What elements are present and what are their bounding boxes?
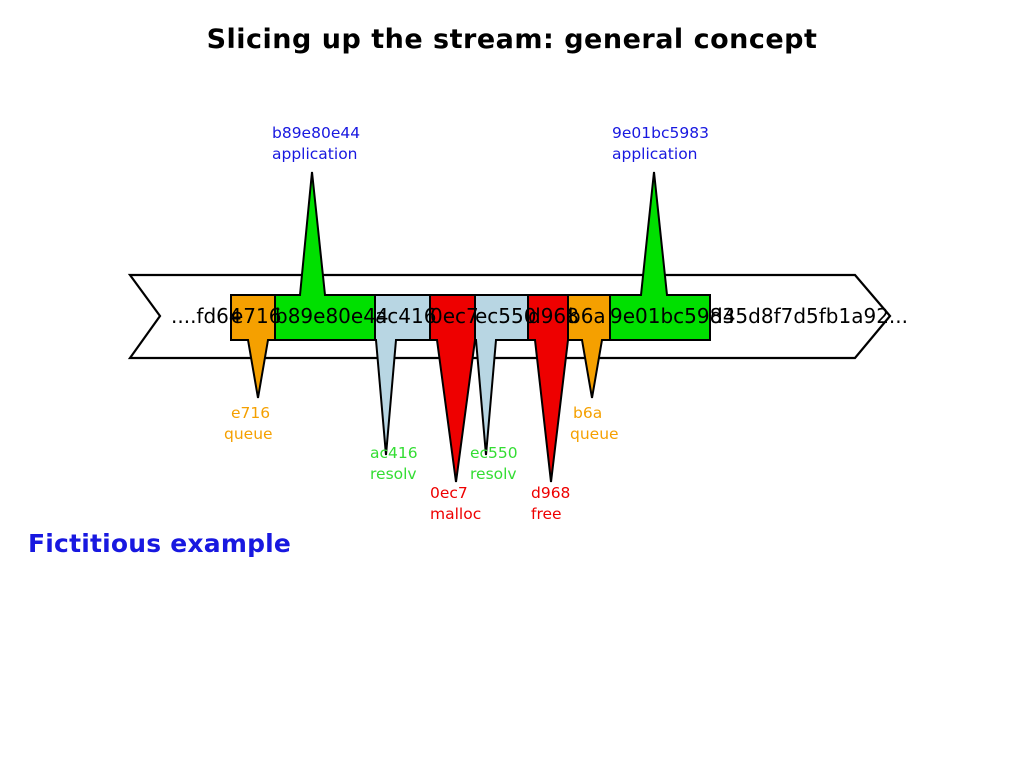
callout-hash: ec550 bbox=[470, 444, 518, 462]
callout-name: application bbox=[272, 145, 358, 163]
callout-name: queue bbox=[224, 425, 273, 443]
stream-hex-text: ....fd64 e716 b89e80e44 ac416 0ec7 ec550… bbox=[171, 304, 908, 328]
callout-name: resolv bbox=[370, 465, 417, 483]
callout-hash: 0ec7 bbox=[430, 484, 468, 502]
stream-segment-text-b6a: b6a bbox=[568, 304, 606, 328]
stream-slicing-diagram: ....fd64 e716 b89e80e44 ac416 0ec7 ec550… bbox=[0, 0, 1024, 768]
callout-hash: b6a bbox=[573, 404, 602, 422]
callout-name: queue bbox=[570, 425, 619, 443]
callout-b89e80e44-application: b89e80e44 application bbox=[272, 124, 360, 163]
stream-suffix: d45d8f7d5fb1a92... bbox=[710, 304, 908, 328]
callout-hash: ac416 bbox=[370, 444, 418, 462]
callout-hash: 9e01bc5983 bbox=[612, 124, 709, 142]
slide-canvas: Slicing up the stream: general concept .… bbox=[0, 0, 1024, 768]
stream-segment-text-ac416: ac416 bbox=[375, 304, 436, 328]
callout-hash: d968 bbox=[531, 484, 570, 502]
stream-segment-text-e716: e716 bbox=[231, 304, 281, 328]
callout-e716-queue: e716 queue bbox=[224, 404, 273, 443]
callout-d968-free: d968 free bbox=[531, 484, 570, 523]
callout-hash: b89e80e44 bbox=[272, 124, 360, 142]
callout-name: malloc bbox=[430, 505, 481, 523]
slide-caption: Fictitious example bbox=[28, 529, 291, 558]
stream-segment-text-b89e80e44: b89e80e44 bbox=[275, 304, 389, 328]
callout-ac416-resolv: ac416 resolv bbox=[370, 444, 418, 483]
stream-segment-text-0ec7: 0ec7 bbox=[430, 304, 479, 328]
callout-ec550-resolv: ec550 resolv bbox=[470, 444, 518, 483]
callout-9e01bc5983-application: 9e01bc5983 application bbox=[612, 124, 709, 163]
callout-name: free bbox=[531, 505, 562, 523]
callout-name: resolv bbox=[470, 465, 517, 483]
callout-b6a-queue: b6a queue bbox=[570, 404, 619, 443]
callout-hash: e716 bbox=[231, 404, 270, 422]
callout-name: application bbox=[612, 145, 698, 163]
callout-0ec7-malloc: 0ec7 malloc bbox=[430, 484, 481, 523]
